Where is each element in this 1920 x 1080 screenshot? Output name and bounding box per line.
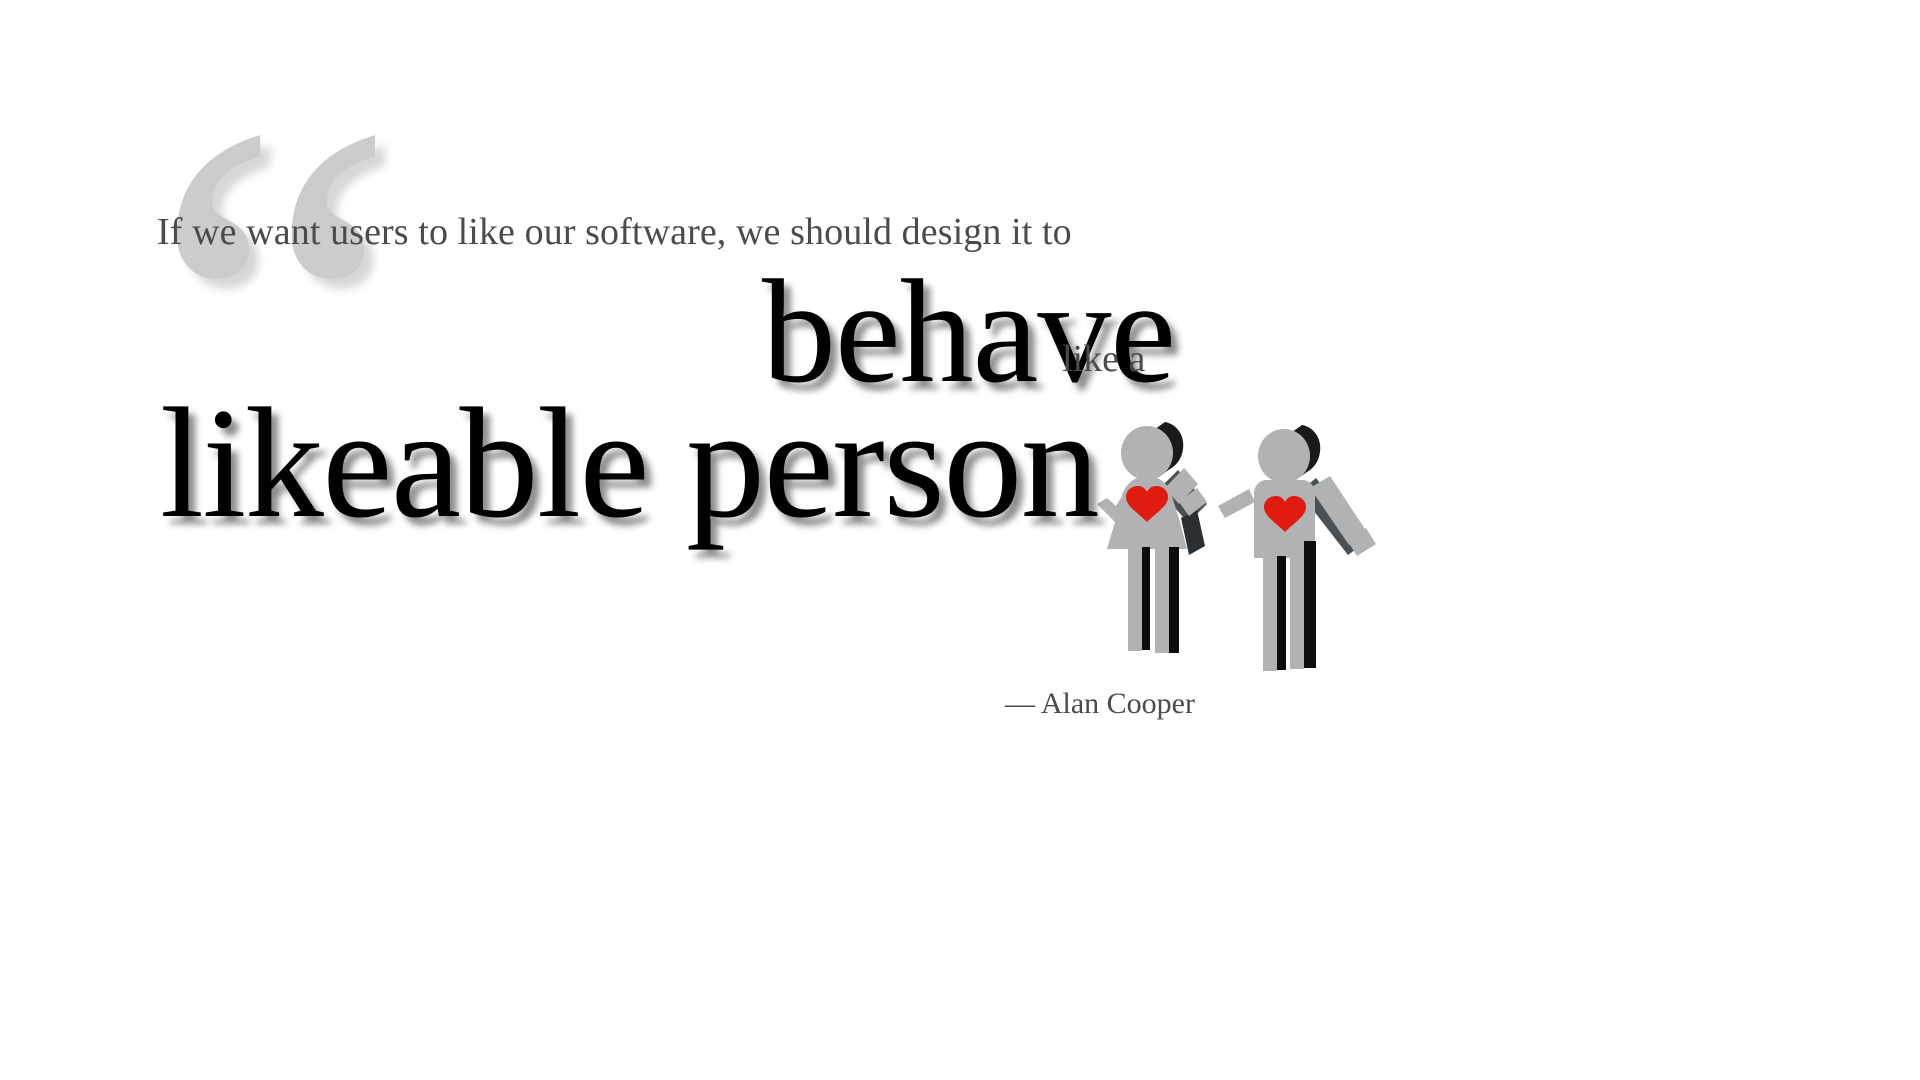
quote-line-1: If we want users to like our software, w… — [157, 210, 1167, 255]
quote-emphasis-line-2: likeable person — [160, 385, 1400, 543]
slide-canvas: “ — [0, 0, 1920, 1080]
quote-attribution: — Alan Cooper — [1005, 687, 1195, 721]
quote-emphasis-likeable-person: likeable person — [160, 385, 1098, 543]
quote-text-block: If we want users to like our software, w… — [0, 0, 1920, 1080]
